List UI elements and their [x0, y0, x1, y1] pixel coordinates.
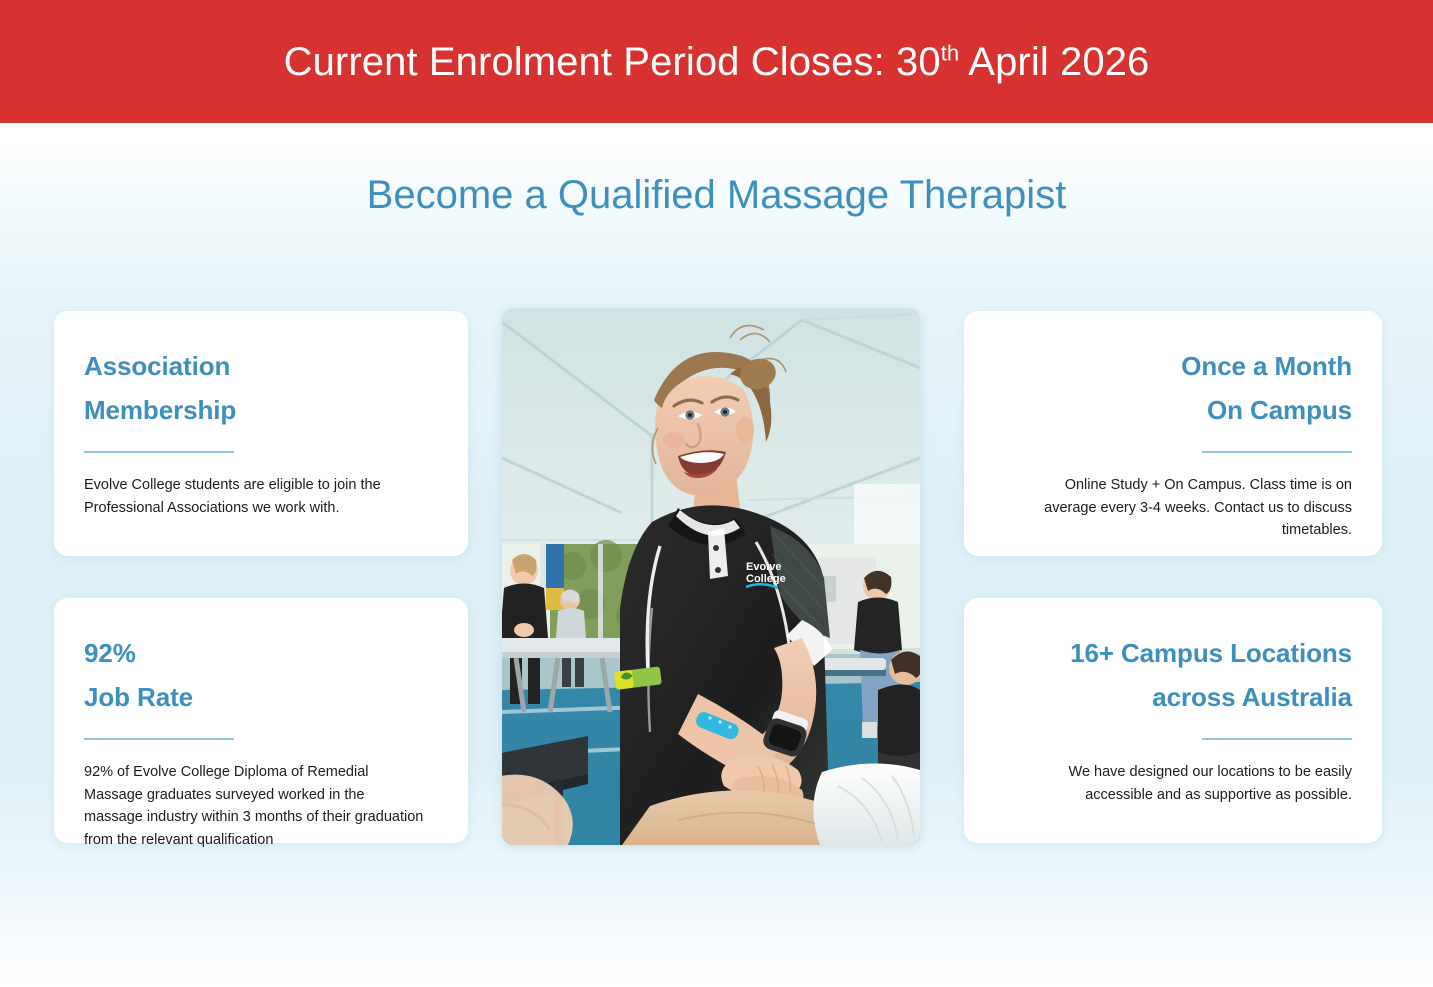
card-body-association-membership: Evolve College students are eligible to …: [84, 474, 424, 519]
card-title-association-membership: Association Membership: [84, 345, 438, 432]
card-title-line: Membership: [84, 389, 438, 433]
enrolment-banner-ordinal: th: [941, 40, 960, 65]
card-association-membership: Association Membership Evolve College st…: [54, 311, 468, 556]
card-title-job-rate: 92% Job Rate: [84, 632, 438, 719]
hero-photo-image: Evolve College: [502, 308, 920, 845]
card-job-rate: 92% Job Rate 92% of Evolve College Diplo…: [54, 598, 468, 843]
card-once-a-month-on-campus: Once a Month On Campus Online Study + On…: [964, 311, 1382, 556]
promo-page: Current Enrolment Period Closes: 30th Ap…: [0, 0, 1433, 987]
card-title-line: Job Rate: [84, 676, 438, 720]
card-title-line: across Australia: [1070, 676, 1352, 720]
enrolment-banner-text: Current Enrolment Period Closes: 30th Ap…: [284, 42, 1150, 82]
enrolment-banner: Current Enrolment Period Closes: 30th Ap…: [0, 0, 1433, 123]
card-body-once-a-month-on-campus: Online Study + On Campus. Class time is …: [1032, 474, 1352, 542]
card-title-line: Association: [84, 345, 438, 389]
card-campus-locations: 16+ Campus Locations across Australia We…: [964, 598, 1382, 843]
card-divider: [1202, 451, 1352, 453]
card-title-once-a-month-on-campus: Once a Month On Campus: [1181, 345, 1352, 432]
enrolment-banner-prefix: Current Enrolment Period Closes: 30: [284, 40, 941, 84]
card-divider: [84, 451, 234, 453]
card-title-line: 16+ Campus Locations: [1070, 632, 1352, 676]
card-body-campus-locations: We have designed our locations to be eas…: [1032, 761, 1352, 806]
card-body-job-rate: 92% of Evolve College Diploma of Remedia…: [84, 761, 424, 851]
card-title-line: 92%: [84, 632, 438, 676]
card-divider: [1202, 738, 1352, 740]
card-title-line: Once a Month: [1181, 345, 1352, 389]
enrolment-banner-suffix: April 2026: [959, 40, 1149, 84]
card-title-campus-locations: 16+ Campus Locations across Australia: [1070, 632, 1352, 719]
card-divider: [84, 738, 234, 740]
hero-photo: Evolve College: [502, 308, 920, 845]
card-title-line: On Campus: [1181, 389, 1352, 433]
page-title: Become a Qualified Massage Therapist: [0, 172, 1433, 218]
